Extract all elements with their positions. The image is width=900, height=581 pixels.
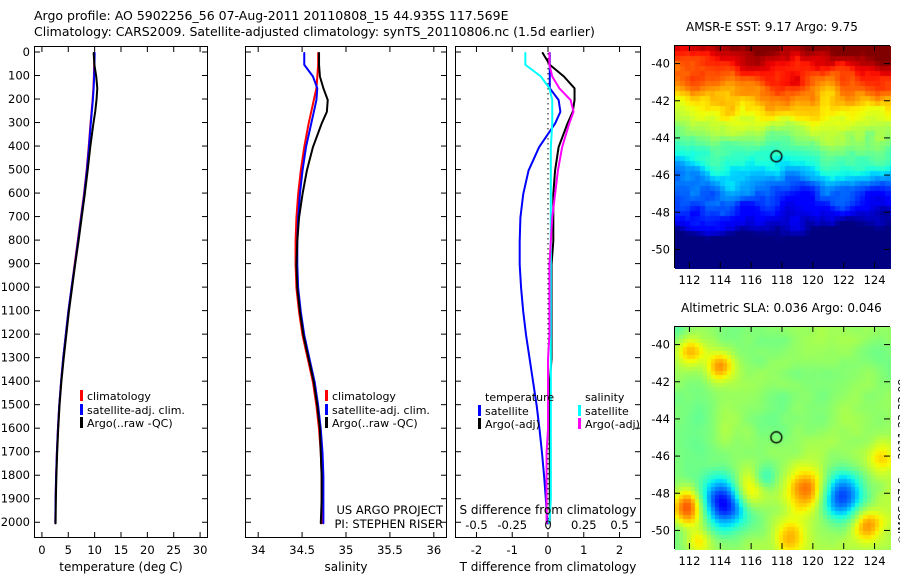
svg-text:-48: -48 xyxy=(651,486,670,500)
temperature-legend: climatology satellite-adj. clim. Argo(..… xyxy=(80,390,185,431)
project-pi: PI: STEPHEN RISER xyxy=(300,517,443,531)
svg-text:-44: -44 xyxy=(651,412,670,426)
svg-text:0.5: 0.5 xyxy=(610,518,628,532)
svg-text:-48: -48 xyxy=(651,205,670,219)
legend-label: climatology xyxy=(332,390,396,403)
title-line-1: Argo profile: AO 5902256_56 07-Aug-2011 … xyxy=(34,8,595,24)
legend-item: Argo(-adj) xyxy=(578,418,640,432)
svg-text:124: 124 xyxy=(864,273,886,287)
legend-swatch-climatology xyxy=(80,390,83,401)
svg-text:1700: 1700 xyxy=(1,445,30,459)
temperature-axes: 0100200300400500600700800900100011001200… xyxy=(0,40,230,580)
svg-text:-40: -40 xyxy=(651,338,670,352)
legend-swatch-satellite-adj xyxy=(80,404,83,415)
svg-text:120: 120 xyxy=(802,554,824,568)
svg-text:2: 2 xyxy=(616,543,623,557)
svg-text:112: 112 xyxy=(678,554,700,568)
svg-text:200: 200 xyxy=(8,92,30,106)
svg-text:1: 1 xyxy=(580,543,587,557)
salinity-legend: climatology satellite-adj. clim. Argo(..… xyxy=(325,390,430,431)
legend-label: Argo(-adj) xyxy=(585,418,640,431)
legend-item: satellite-adj. clim. xyxy=(80,404,185,418)
svg-text:1800: 1800 xyxy=(1,468,30,482)
legend-item: Argo(..raw -QC) xyxy=(80,417,185,431)
svg-text:500: 500 xyxy=(8,163,30,177)
legend-item: satellite-adj. clim. xyxy=(325,404,430,418)
legend-header-salinity: salinity xyxy=(578,391,640,405)
svg-text:118: 118 xyxy=(771,554,793,568)
svg-text:S difference from climatology: S difference from climatology xyxy=(460,503,637,517)
legend-swatch-argo xyxy=(80,417,83,428)
svg-text:100: 100 xyxy=(8,69,30,83)
svg-text:1100: 1100 xyxy=(1,304,30,318)
legend-swatch-s-satellite xyxy=(578,405,581,416)
svg-text:1500: 1500 xyxy=(1,398,30,412)
svg-text:35.5: 35.5 xyxy=(377,543,403,557)
legend-label: satellite xyxy=(485,405,529,418)
map-sst-title: AMSR-E SST: 9.17 Argo: 9.75 xyxy=(686,20,858,34)
svg-text:1200: 1200 xyxy=(1,327,30,341)
title-line-2: Climatology: CARS2009. Satellite-adjuste… xyxy=(34,24,595,40)
svg-text:-42: -42 xyxy=(651,375,670,389)
svg-text:34.5: 34.5 xyxy=(289,543,315,557)
svg-text:800: 800 xyxy=(8,233,30,247)
svg-text:118: 118 xyxy=(771,273,793,287)
svg-text:20: 20 xyxy=(140,543,155,557)
legend-label: Argo(..raw -QC) xyxy=(332,417,418,430)
legend-swatch-climatology xyxy=(325,390,328,401)
legend-swatch-t-argo xyxy=(478,418,481,429)
legend-item: climatology xyxy=(80,390,185,404)
svg-text:10: 10 xyxy=(87,543,102,557)
difference-axes: -2-1012T difference from climatology-0.5… xyxy=(430,40,670,580)
svg-text:0: 0 xyxy=(23,45,30,59)
legend-swatch-t-satellite xyxy=(478,405,481,416)
legend-label: climatology xyxy=(87,390,151,403)
legend-label: satellite-adj. clim. xyxy=(332,404,430,417)
legend-label: satellite xyxy=(585,405,629,418)
svg-text:T difference from climatology: T difference from climatology xyxy=(459,560,637,574)
svg-text:0.25: 0.25 xyxy=(571,518,597,532)
legend-label: Argo(-adj) xyxy=(485,418,540,431)
svg-text:114: 114 xyxy=(709,554,731,568)
svg-text:34: 34 xyxy=(251,543,266,557)
svg-text:30: 30 xyxy=(193,543,208,557)
svg-text:112: 112 xyxy=(678,273,700,287)
copyright-notice: ©IMOS 27-Sep-2011 23:32:09 xyxy=(896,379,900,545)
svg-text:122: 122 xyxy=(833,273,855,287)
svg-text:1900: 1900 xyxy=(1,492,30,506)
svg-text:116: 116 xyxy=(740,554,762,568)
figure-title: Argo profile: AO 5902256_56 07-Aug-2011 … xyxy=(34,8,595,40)
svg-text:-44: -44 xyxy=(651,131,670,145)
difference-legend-salinity: salinity satellite Argo(-adj) xyxy=(578,391,640,432)
svg-text:1400: 1400 xyxy=(1,374,30,388)
project-name: US ARGO PROJECT xyxy=(300,503,443,517)
svg-text:-40: -40 xyxy=(651,57,670,71)
svg-text:-2: -2 xyxy=(471,543,482,557)
svg-text:0: 0 xyxy=(38,543,45,557)
svg-text:25: 25 xyxy=(166,543,181,557)
argo-project-credit: US ARGO PROJECT PI: STEPHEN RISER xyxy=(300,503,443,531)
map-sst-axes: 112114116118120122124-40-42-44-46-48-50 xyxy=(644,38,900,300)
svg-text:-1: -1 xyxy=(506,543,517,557)
svg-text:1600: 1600 xyxy=(1,421,30,435)
svg-text:1300: 1300 xyxy=(1,351,30,365)
svg-text:-46: -46 xyxy=(651,168,670,182)
map-sla-title: Altimetric SLA: 0.036 Argo: 0.046 xyxy=(681,301,882,315)
svg-text:15: 15 xyxy=(114,543,129,557)
svg-text:-0.25: -0.25 xyxy=(497,518,527,532)
svg-text:116: 116 xyxy=(740,273,762,287)
svg-text:900: 900 xyxy=(8,257,30,271)
svg-text:0: 0 xyxy=(544,518,551,532)
legend-item: Argo(-adj) xyxy=(478,418,554,432)
svg-text:700: 700 xyxy=(8,210,30,224)
svg-text:122: 122 xyxy=(833,554,855,568)
legend-swatch-s-argo xyxy=(578,418,581,429)
svg-text:1000: 1000 xyxy=(1,280,30,294)
svg-text:2000: 2000 xyxy=(1,515,30,529)
map-sla-axes: 112114116118120122124-40-42-44-46-48-50 xyxy=(644,319,900,581)
legend-label: Argo(..raw -QC) xyxy=(87,417,173,430)
svg-text:-0.5: -0.5 xyxy=(465,518,487,532)
svg-text:600: 600 xyxy=(8,186,30,200)
svg-text:124: 124 xyxy=(864,554,886,568)
legend-item: satellite xyxy=(578,405,640,419)
svg-text:400: 400 xyxy=(8,139,30,153)
svg-text:-50: -50 xyxy=(651,242,670,256)
svg-text:temperature (deg C): temperature (deg C) xyxy=(59,560,182,574)
legend-swatch-argo xyxy=(325,417,328,428)
legend-item: climatology xyxy=(325,390,430,404)
legend-header-temperature: temperature xyxy=(478,391,554,405)
svg-text:5: 5 xyxy=(65,543,72,557)
svg-text:300: 300 xyxy=(8,116,30,130)
legend-item: Argo(..raw -QC) xyxy=(325,417,430,431)
svg-text:salinity: salinity xyxy=(324,560,367,574)
legend-item: satellite xyxy=(478,405,554,419)
difference-legend: temperature satellite Argo(-adj) xyxy=(478,391,554,432)
svg-text:114: 114 xyxy=(709,273,731,287)
svg-text:35: 35 xyxy=(339,543,354,557)
svg-text:0: 0 xyxy=(544,543,551,557)
legend-swatch-satellite-adj xyxy=(325,404,328,415)
svg-text:-50: -50 xyxy=(651,523,670,537)
legend-label: satellite-adj. clim. xyxy=(87,404,185,417)
svg-text:120: 120 xyxy=(802,273,824,287)
svg-text:-42: -42 xyxy=(651,94,670,108)
svg-text:-46: -46 xyxy=(651,449,670,463)
